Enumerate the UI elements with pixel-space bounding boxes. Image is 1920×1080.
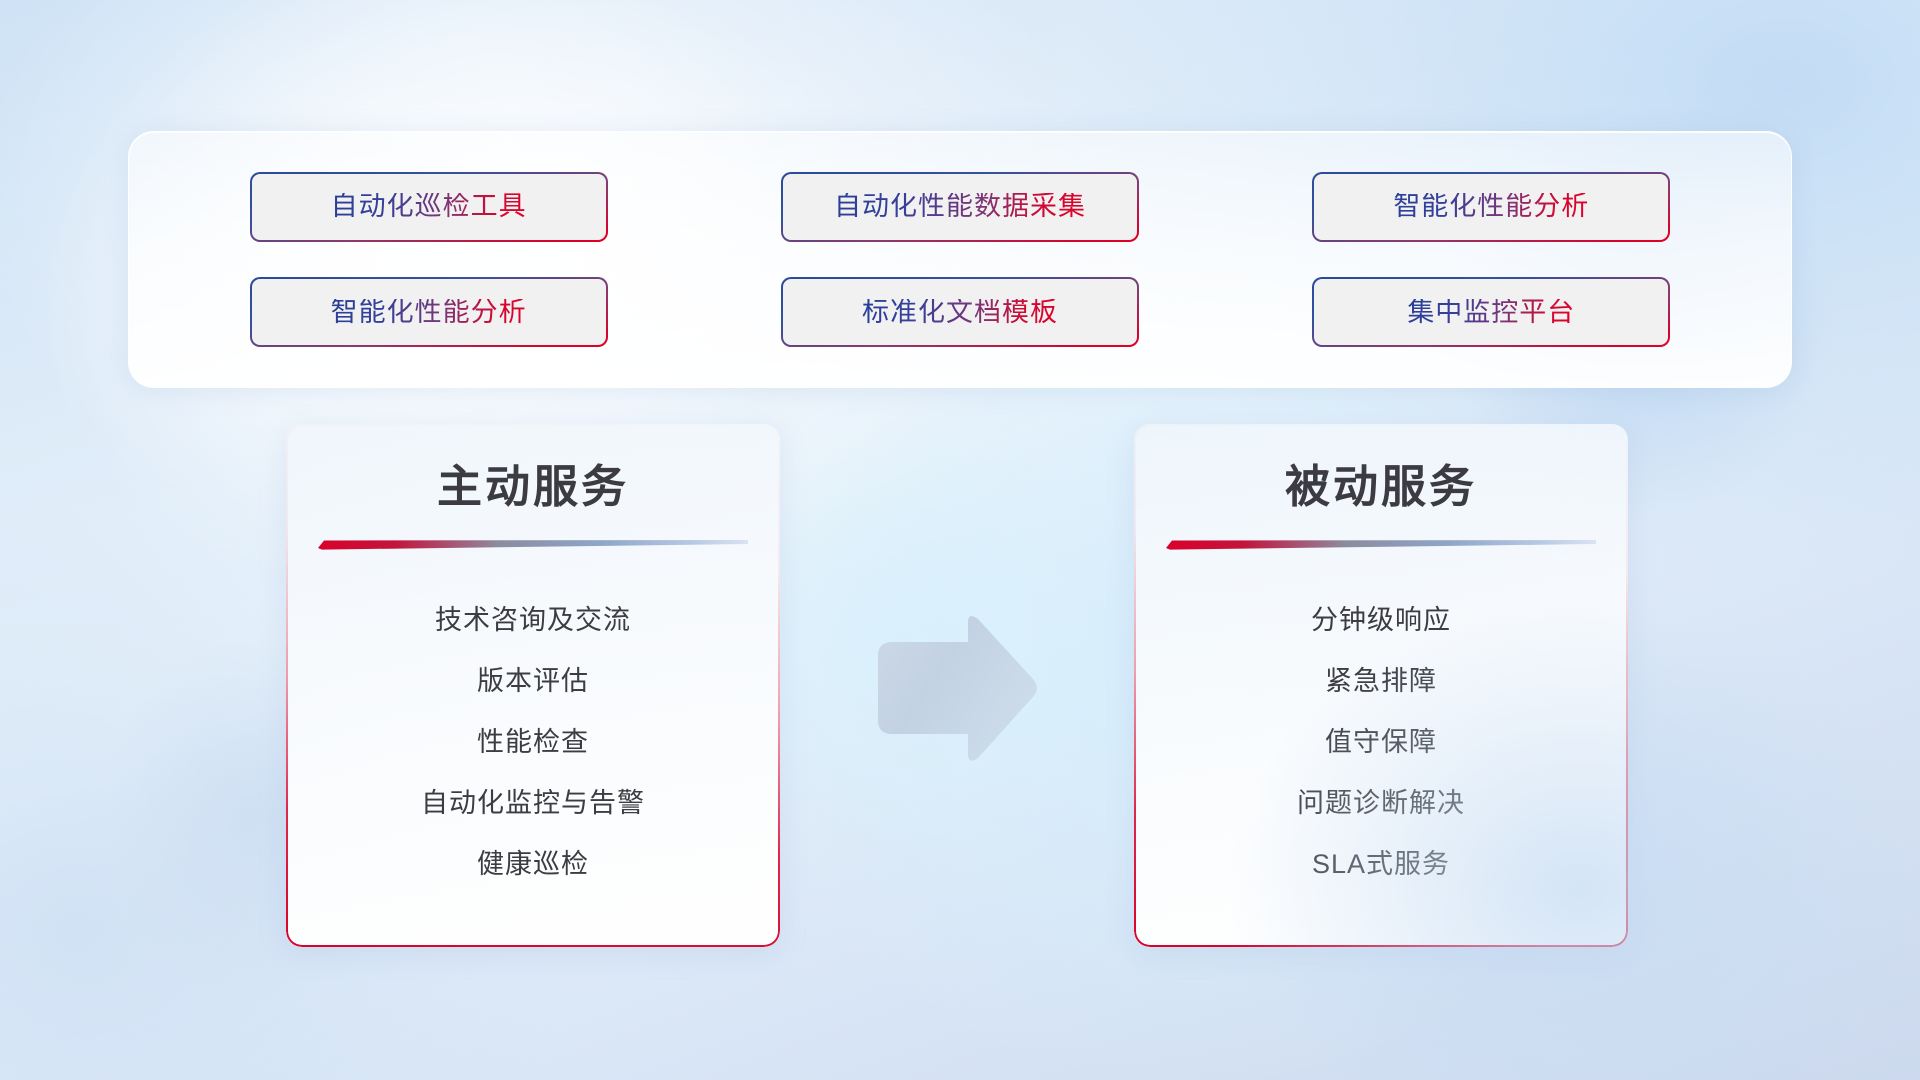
- service-card-title: 被动服务: [1134, 424, 1628, 512]
- capability-tag[interactable]: 自动化性能数据采集: [781, 172, 1139, 242]
- capability-tag[interactable]: 自动化巡检工具: [250, 172, 608, 242]
- service-list-item: 性能检查: [286, 712, 780, 773]
- service-list-item: 技术咨询及交流: [286, 590, 780, 651]
- capability-tag-label: 智能化性能分析: [1393, 193, 1589, 220]
- service-list-item: 值守保障: [1134, 712, 1628, 773]
- capability-tag[interactable]: 标准化文档模板: [781, 277, 1139, 347]
- title-divider: [1166, 538, 1596, 550]
- slide-canvas: 自动化巡检工具 自动化性能数据采集 智能化性能分析 智能化性能分析 标准化文档模…: [0, 0, 1920, 1080]
- capability-tag[interactable]: 智能化性能分析: [1312, 172, 1670, 242]
- service-card-active: 主动服务 技术咨询及交流 版本评估 性能检查: [286, 424, 780, 947]
- service-list-item: SLA式服务: [1134, 834, 1628, 895]
- service-item-list: 技术咨询及交流 版本评估 性能检查 自动化监控与告警 健康巡检: [286, 550, 780, 895]
- service-list-item: 紧急排障: [1134, 651, 1628, 712]
- capability-tag-label: 集中监控平台: [1407, 299, 1575, 326]
- service-list-item: 分钟级响应: [1134, 590, 1628, 651]
- arrow-right-icon: [872, 612, 1040, 772]
- service-card-title: 主动服务: [286, 424, 780, 512]
- service-card-passive: 被动服务 分钟级响应 紧急排障 值守保障: [1134, 424, 1628, 947]
- capability-tag[interactable]: 集中监控平台: [1312, 277, 1670, 347]
- capability-tag-label: 智能化性能分析: [331, 299, 527, 326]
- service-list-item: 健康巡检: [286, 834, 780, 895]
- service-item-list: 分钟级响应 紧急排障 值守保障 问题诊断解决 SLA式服务: [1134, 550, 1628, 895]
- capability-tag-label: 自动化巡检工具: [331, 193, 527, 220]
- capability-tag-label: 标准化文档模板: [862, 299, 1058, 326]
- service-list-item: 自动化监控与告警: [286, 773, 780, 834]
- title-divider: [318, 538, 748, 550]
- capability-tag-panel: 自动化巡检工具 自动化性能数据采集 智能化性能分析 智能化性能分析 标准化文档模…: [128, 131, 1792, 388]
- capability-tag-label: 自动化性能数据采集: [834, 193, 1086, 220]
- service-list-item: 版本评估: [286, 651, 780, 712]
- service-list-item: 问题诊断解决: [1134, 773, 1628, 834]
- capability-tag[interactable]: 智能化性能分析: [250, 277, 608, 347]
